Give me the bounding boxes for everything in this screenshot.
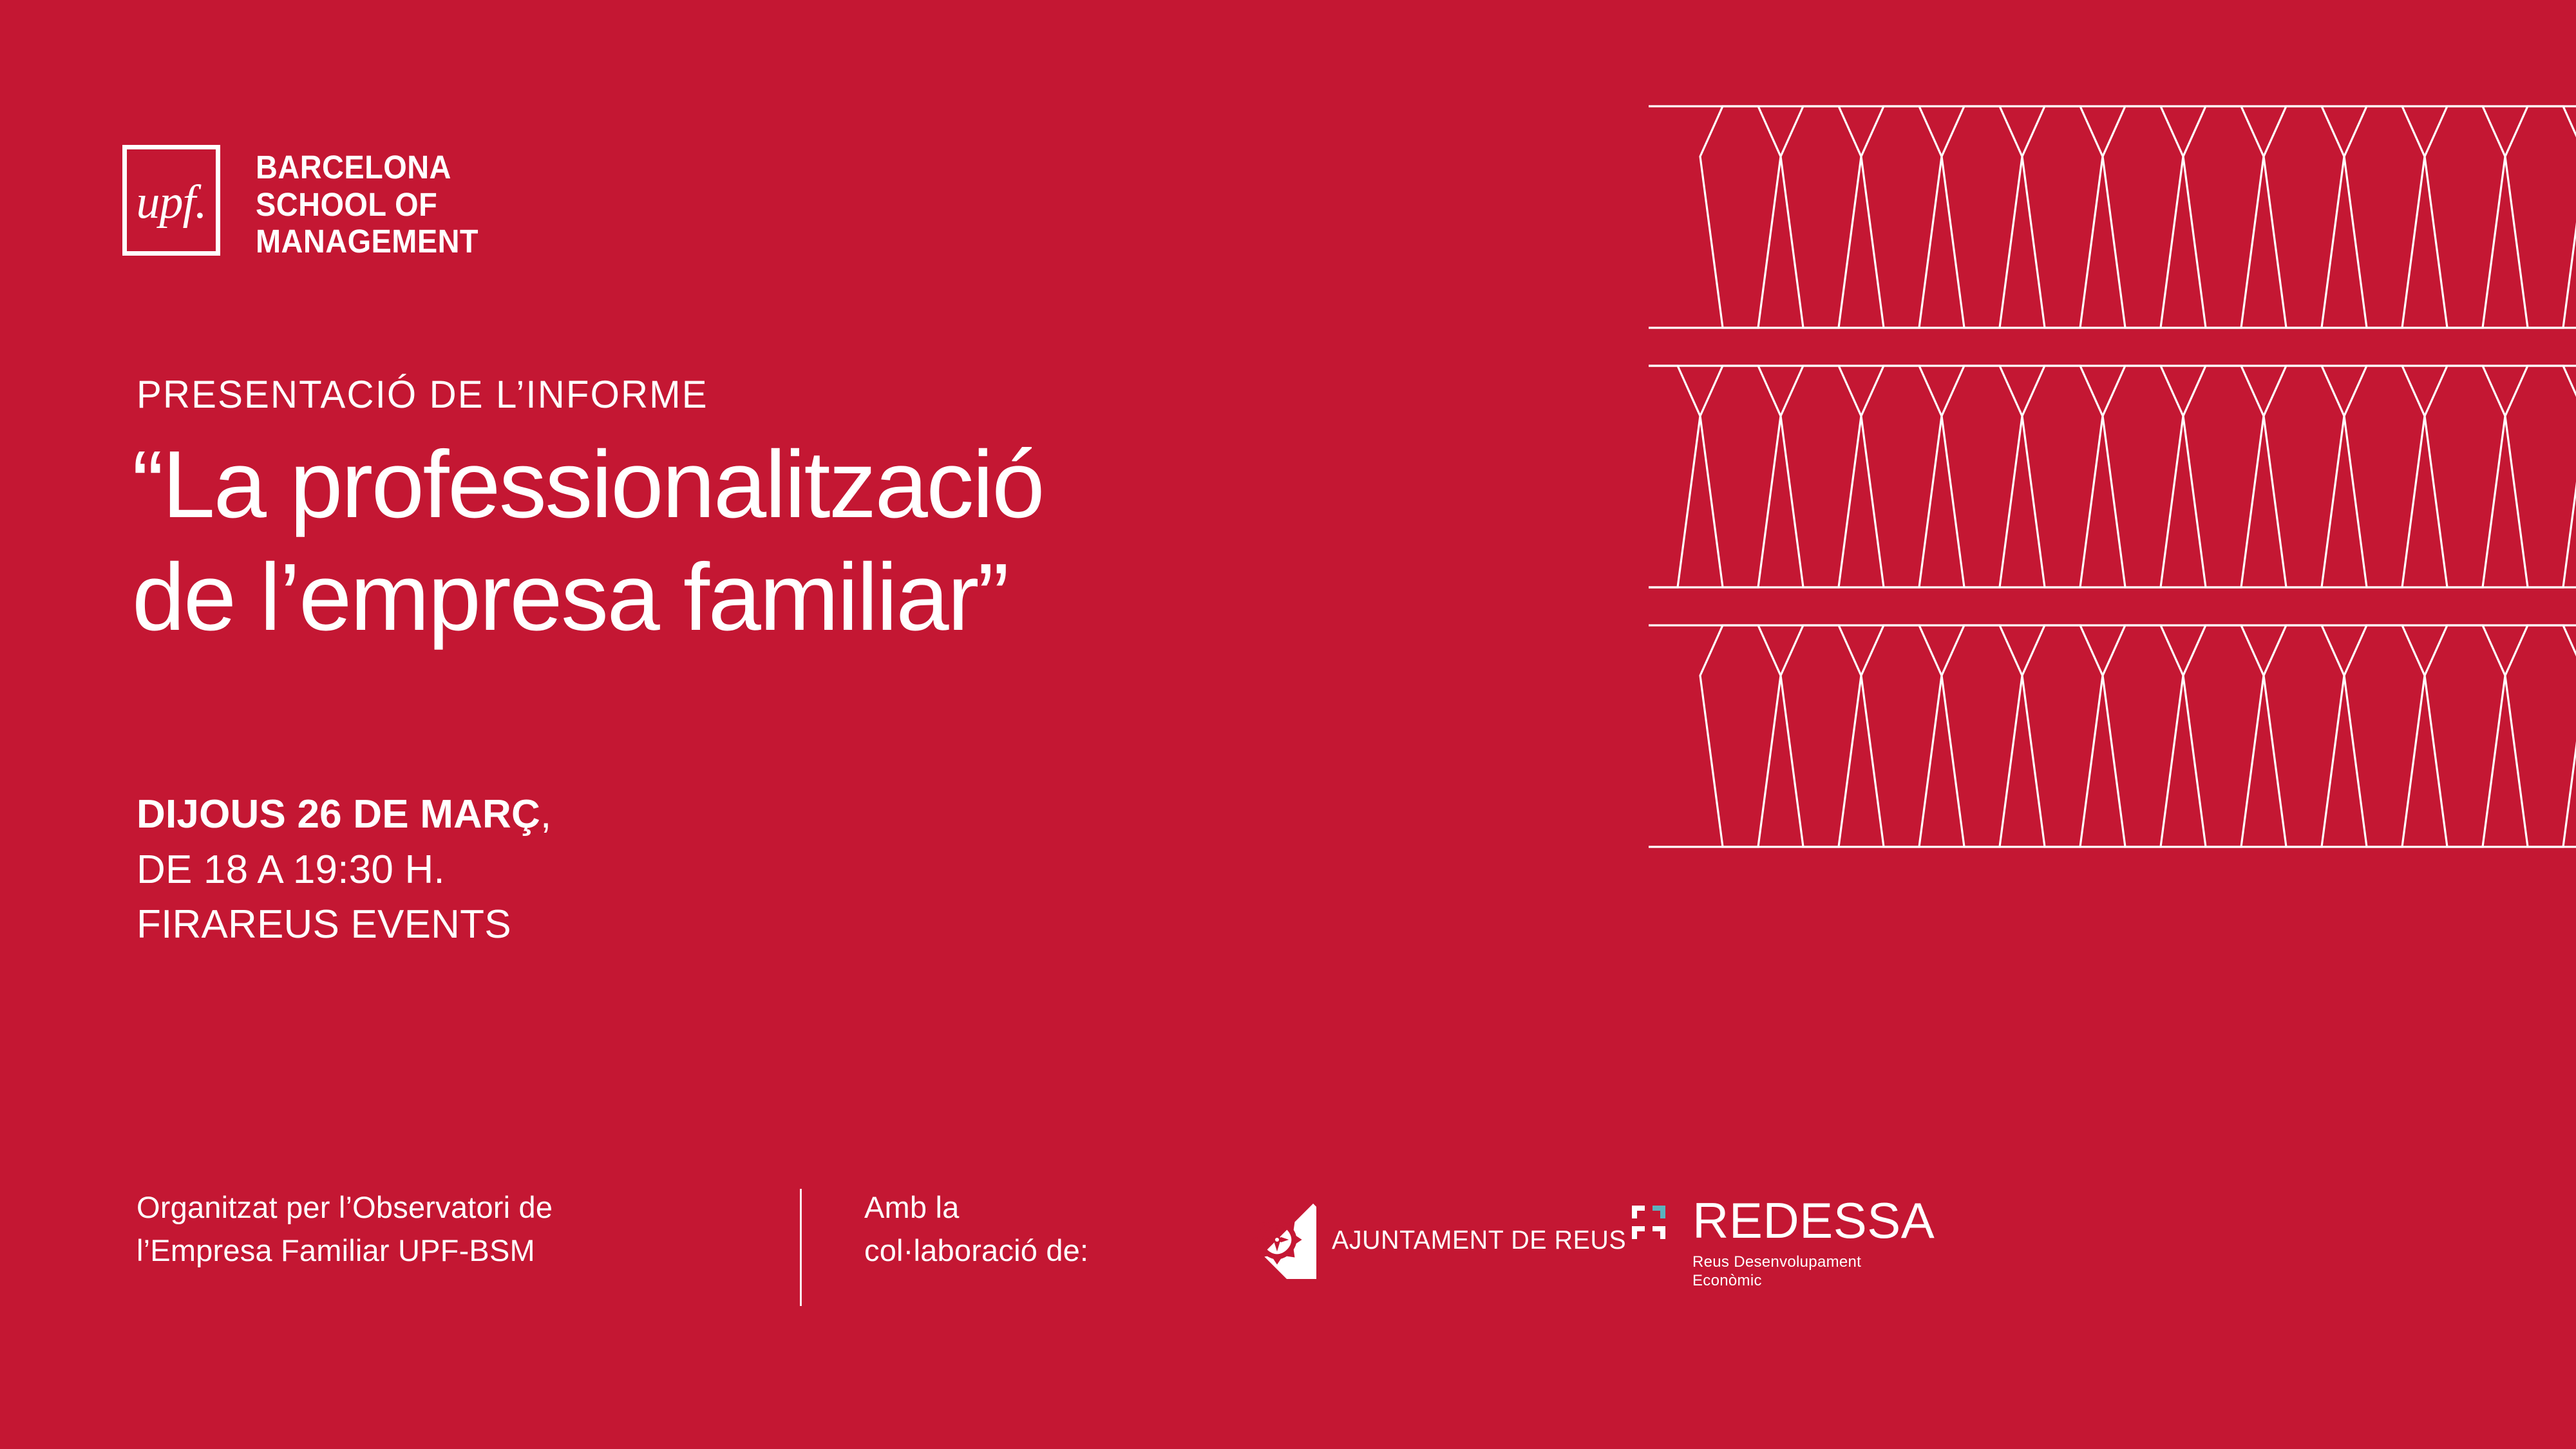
upf-wordmark: upf. <box>136 178 206 226</box>
title-line-2: de l’empresa familiar” <box>132 542 1043 654</box>
school-name-line-2: SCHOOL OF <box>256 186 437 223</box>
collab-line-2: col·laboració de: <box>864 1229 1225 1273</box>
event-date: DIJOUS 26 DE MARÇ <box>137 792 540 837</box>
redessa-squares-icon <box>1631 1203 1678 1249</box>
school-name-line-1: BARCELONA <box>256 149 451 185</box>
collaboration-label: Amb la col·laboració de: <box>864 1186 1225 1272</box>
title-line-1: “La professionalització <box>132 429 1043 542</box>
event-details: DIJOUS 26 DE MARÇ, DE 18 A 19:30 H. FIRA… <box>137 787 551 952</box>
ajuntament-de-reus-name: AJUNTAMENT DE REUS <box>1332 1225 1626 1255</box>
school-name-line-3: MANAGEMENT <box>256 223 478 260</box>
redessa-logo: REDESSA Reus Desenvolupament Econòmic <box>1631 1197 1935 1291</box>
event-date-comma: , <box>540 792 551 837</box>
redessa-tagline-line-2: Econòmic <box>1692 1272 1935 1291</box>
page-title: “La professionalització de l’empresa fam… <box>132 429 1043 654</box>
school-name: BARCELONA SCHOOL OF MANAGEMENT <box>256 149 478 260</box>
footer: Organitzat per l’Observatori de l’Empres… <box>137 1186 2391 1354</box>
upf-bsm-logo: upf. BARCELONA SCHOOL OF MANAGEMENT <box>122 145 498 260</box>
redessa-tagline: Reus Desenvolupament Econòmic <box>1692 1253 1935 1291</box>
hexagon-lattice-pattern <box>1649 0 2576 934</box>
footer-divider <box>800 1189 802 1306</box>
organizer-line-1: Organitzat per l’Observatori de <box>137 1186 748 1229</box>
organizer-credit: Organitzat per l’Observatori de l’Empres… <box>137 1186 748 1272</box>
organizer-line-2: l’Empresa Familiar UPF-BSM <box>137 1229 748 1273</box>
event-date-line: DIJOUS 26 DE MARÇ, <box>137 787 551 842</box>
collab-line-1: Amb la <box>864 1186 1225 1229</box>
ajuntament-de-reus-logo: AJUNTAMENT DE REUS <box>1238 1200 1638 1279</box>
report-kicker: PRESENTACIÓ DE L’INFORME <box>137 372 708 417</box>
upf-logo-mark: upf. <box>122 145 220 256</box>
event-banner: upf. BARCELONA SCHOOL OF MANAGEMENT PRES… <box>0 0 2576 1449</box>
redessa-tagline-line-1: Reus Desenvolupament <box>1692 1253 1935 1272</box>
redessa-wordmark: REDESSA <box>1692 1197 1935 1245</box>
reus-rose-diamond-icon <box>1238 1200 1316 1279</box>
event-time: DE 18 A 19:30 H. <box>137 842 551 898</box>
event-venue: FIRAREUS EVENTS <box>137 897 551 952</box>
